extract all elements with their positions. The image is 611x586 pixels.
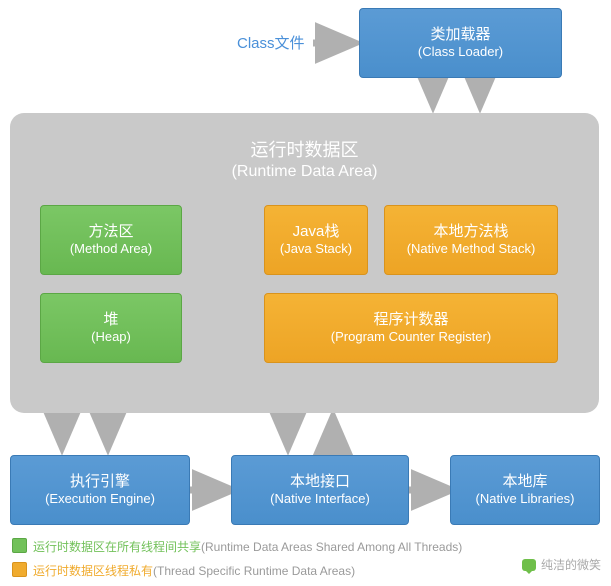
node-native-libraries[interactable]: 本地库 (Native Libraries) [450,455,600,525]
legend-swatch-green-icon [12,538,27,553]
legend-shared-en: (Runtime Data Areas Shared Among All Thr… [201,540,462,554]
legend-shared-cn: 运行时数据区在所有线程间共享 [33,540,201,554]
node-pc-register[interactable]: 程序计数器 (Program Counter Register) [264,293,558,363]
node-java-stack-cn: Java栈 [293,223,340,242]
node-native-interface-cn: 本地接口 [290,473,350,492]
node-class-loader-cn: 类加载器 [430,26,490,45]
node-execution-engine-en: (Execution Engine) [45,491,155,507]
node-native-method-stack-en: (Native Method Stack) [407,241,536,257]
runtime-data-area-title-en: (Runtime Data Area) [10,162,599,183]
node-execution-engine-cn: 执行引擎 [70,473,130,492]
node-native-libraries-cn: 本地库 [502,473,547,492]
node-native-interface-en: (Native Interface) [270,491,370,507]
class-file-label: Class文件 [237,32,305,53]
node-heap[interactable]: 堆 (Heap) [40,293,182,363]
runtime-data-area-title: 运行时数据区 (Runtime Data Area) [10,139,599,183]
legend-thread-en: (Thread Specific Runtime Data Areas) [153,564,355,578]
legend-swatch-orange-icon [12,562,27,577]
node-pc-register-cn: 程序计数器 [373,311,448,330]
legend-item-thread-specific: 运行时数据区线程私有(Thread Specific Runtime Data … [12,562,355,579]
wechat-icon [522,559,536,571]
legend-item-shared: 运行时数据区在所有线程间共享(Runtime Data Areas Shared… [12,538,462,555]
node-method-area-en: (Method Area) [70,241,152,257]
node-pc-register-en: (Program Counter Register) [331,329,491,345]
node-method-area[interactable]: 方法区 (Method Area) [40,205,182,275]
node-java-stack-en: (Java Stack) [280,241,352,257]
node-native-method-stack[interactable]: 本地方法栈 (Native Method Stack) [384,205,558,275]
node-heap-en: (Heap) [91,329,131,345]
legend-thread-cn: 运行时数据区线程私有 [33,564,153,578]
node-execution-engine[interactable]: 执行引擎 (Execution Engine) [10,455,190,525]
watermark: 纯洁的微笑 [522,556,601,573]
watermark-text: 纯洁的微笑 [541,556,601,573]
node-class-loader[interactable]: 类加载器 (Class Loader) [359,8,562,78]
node-method-area-cn: 方法区 [88,223,133,242]
node-native-interface[interactable]: 本地接口 (Native Interface) [231,455,409,525]
runtime-data-area-title-cn: 运行时数据区 [10,139,599,162]
node-java-stack[interactable]: Java栈 (Java Stack) [264,205,368,275]
node-native-libraries-en: (Native Libraries) [476,491,575,507]
node-heap-cn: 堆 [103,311,118,330]
diagram-canvas: Class文件 类加载器 (Class Loader) 运行时数据区 (Runt… [0,0,611,586]
node-class-loader-en: (Class Loader) [418,44,503,60]
node-native-method-stack-cn: 本地方法栈 [433,223,508,242]
